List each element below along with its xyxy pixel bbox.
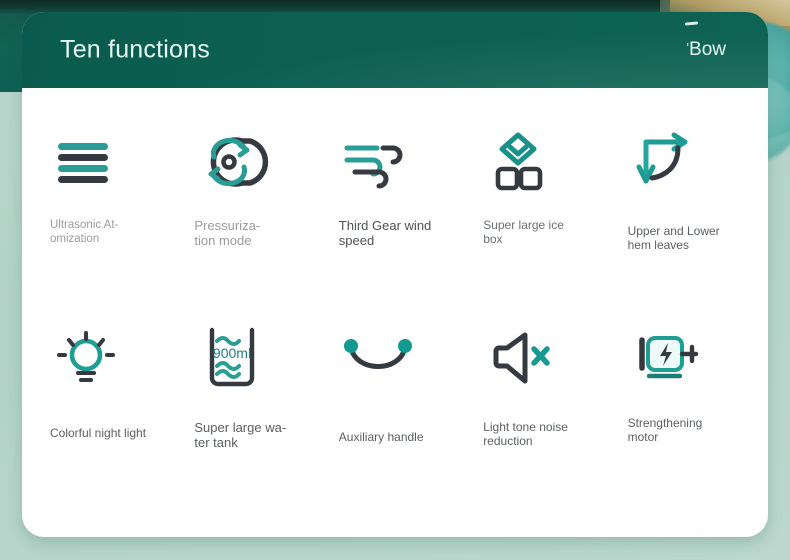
- header-right-text: Bow: [689, 39, 726, 60]
- feature-label: Ultrasonic At- omization: [50, 218, 162, 246]
- feature-label-line: box: [483, 232, 595, 246]
- feature-label-line: Colorful night light: [50, 426, 162, 440]
- feature-label-line: Strengthening: [628, 416, 740, 430]
- feature-item-super-large-water-tank[interactable]: 900ml Super large wa- ter tank: [178, 318, 322, 514]
- circular-arrows-icon: [194, 122, 306, 202]
- feature-label: Third Gear wind speed: [339, 218, 451, 248]
- stacked-lines-icon: [50, 122, 162, 202]
- ice-box-icon: [483, 122, 595, 202]
- feature-label-line: Super large wa-: [194, 420, 306, 435]
- feature-label-line: speed: [339, 233, 451, 248]
- feature-item-light-tone-noise-reduction[interactable]: Light tone noise reduction: [467, 318, 611, 514]
- feature-item-colorful-night-light[interactable]: Colorful night light: [34, 318, 178, 514]
- feature-label-line: reduction: [483, 434, 595, 448]
- feature-card: Ten functions 'Bow Ultrasonic At- omizat…: [22, 12, 768, 537]
- feature-label: Pressuriza- tion mode: [194, 218, 306, 248]
- feature-item-ultrasonic-atomization[interactable]: Ultrasonic At- omization: [34, 122, 178, 318]
- mute-speaker-icon: [483, 318, 595, 398]
- feature-label-line: ter tank: [194, 435, 306, 450]
- feature-label-line: Super large ice: [483, 218, 595, 232]
- feature-item-upper-lower-hem-leaves[interactable]: Upper and Lower hem leaves: [612, 122, 756, 318]
- card-header: Ten functions 'Bow: [22, 12, 768, 88]
- night-light-bulb-icon: [50, 318, 162, 398]
- feature-label-line: omization: [50, 232, 162, 246]
- feature-label: Auxiliary handle: [339, 430, 451, 444]
- feature-label: Colorful night light: [50, 426, 162, 440]
- water-tank-capacity-text: 900ml: [213, 345, 251, 361]
- feature-label-line: hem leaves: [628, 238, 740, 252]
- wind-icon: [339, 122, 451, 202]
- feature-label: Super large ice box: [483, 218, 595, 246]
- features-grid: Ultrasonic At- omization Pressuriza-: [22, 88, 768, 537]
- page-title: Ten functions: [60, 36, 210, 65]
- feature-label: Light tone noise reduction: [483, 420, 595, 448]
- motor-bolt-icon: [628, 318, 740, 398]
- feature-item-pressurization-mode[interactable]: Pressuriza- tion mode: [178, 122, 322, 318]
- feature-label-line: motor: [628, 430, 740, 444]
- feature-label-line: Upper and Lower: [628, 224, 740, 238]
- header-right-label: 'Bow: [687, 39, 726, 61]
- feature-item-super-large-ice-box[interactable]: Super large ice box: [467, 122, 611, 318]
- feature-label-line: Pressuriza-: [194, 218, 306, 233]
- feature-label-line: Light tone noise: [483, 420, 595, 434]
- feature-label-line: Auxiliary handle: [339, 430, 451, 444]
- feature-label: Strengthening motor: [628, 416, 740, 444]
- feature-item-auxiliary-handle[interactable]: Auxiliary handle: [323, 318, 467, 514]
- auxiliary-handle-icon: [339, 318, 451, 398]
- feature-label-line: Third Gear wind: [339, 218, 451, 233]
- feature-item-third-gear-wind-speed[interactable]: Third Gear wind speed: [323, 122, 467, 318]
- feature-item-strengthening-motor[interactable]: Strengthening motor: [612, 318, 756, 514]
- feature-label-line: tion mode: [194, 233, 306, 248]
- feature-label: Super large wa- ter tank: [194, 420, 306, 450]
- feature-label-line: Ultrasonic At-: [50, 218, 162, 232]
- feature-label: Upper and Lower hem leaves: [628, 224, 740, 252]
- up-down-arrows-icon: [628, 122, 740, 202]
- water-tank-icon: 900ml: [194, 318, 306, 398]
